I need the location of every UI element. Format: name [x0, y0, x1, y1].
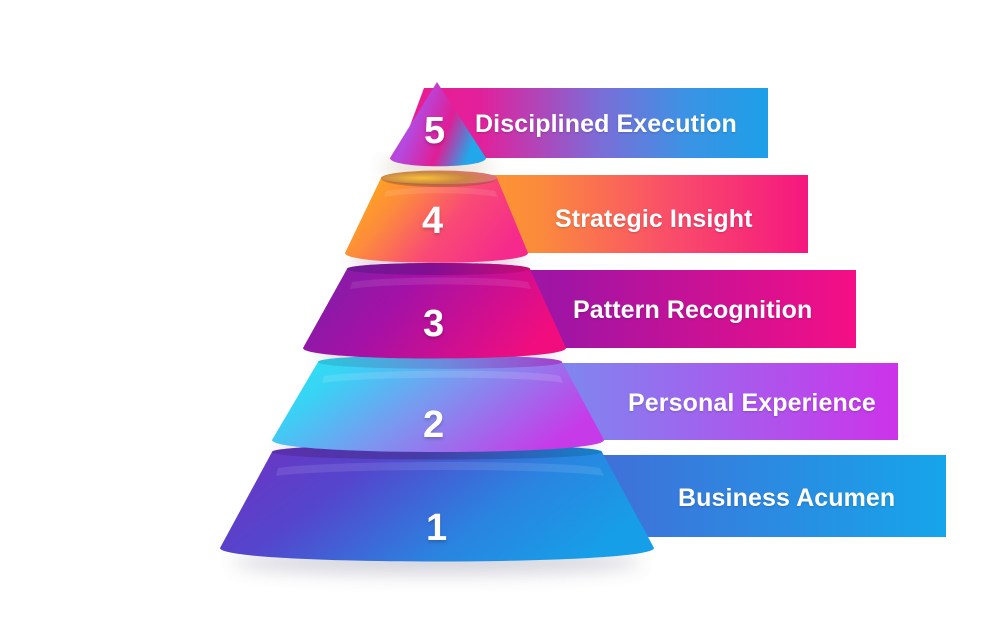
cone-2-body[interactable] — [272, 355, 604, 452]
cone-2[interactable] — [272, 355, 604, 452]
cone-3[interactable] — [303, 263, 566, 359]
pyramid-infographic: Disciplined Execution Strategic Insight … — [0, 0, 1000, 625]
pyramid-diagram — [0, 0, 1000, 625]
cone-3-rim — [347, 263, 530, 275]
cone-3-body[interactable] — [303, 263, 566, 359]
cone-1[interactable] — [220, 445, 654, 562]
